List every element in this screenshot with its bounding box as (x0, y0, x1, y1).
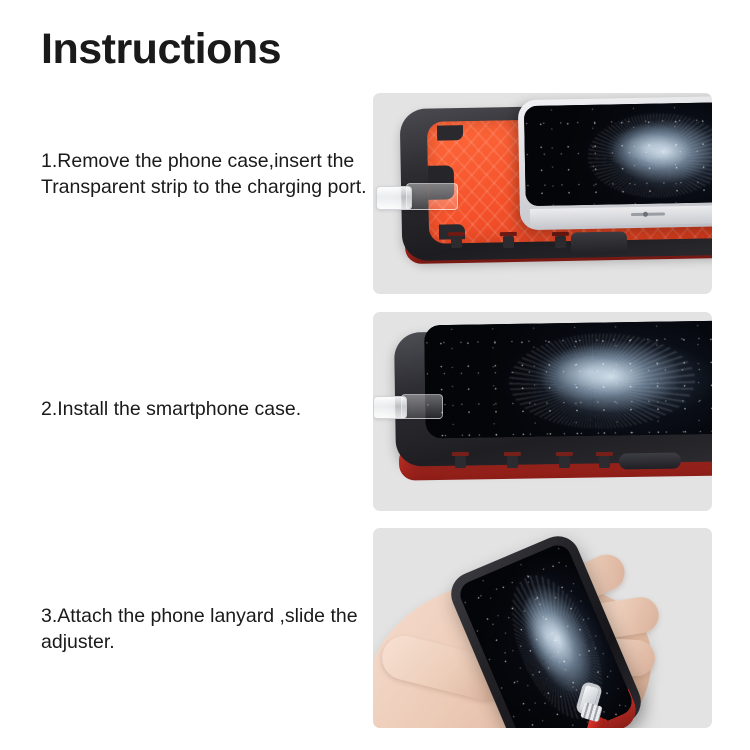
case-side-button (619, 453, 681, 470)
step-3-image-panel (373, 528, 712, 728)
speaker-grille-icon (631, 212, 665, 216)
transparent-strip (376, 186, 412, 210)
transparent-strip-inserted (406, 183, 458, 210)
step-3-text: 3.Attach the phone lanyard ,slide the ad… (41, 603, 371, 655)
case-charging-connector (571, 231, 627, 254)
wallpaper-wave-image (524, 102, 712, 206)
phone-device (518, 96, 712, 230)
step-1-illustration (373, 93, 712, 294)
case-vent-slot (455, 456, 466, 468)
step-3-illustration (373, 528, 712, 728)
case-vent-slot (599, 456, 610, 468)
phone-screen (424, 321, 712, 439)
step-1-text: 1.Remove the phone case,insert the Trans… (41, 148, 371, 200)
case-vent-slot (507, 456, 518, 468)
wallpaper-wave-image (424, 321, 712, 439)
case-vent-slot (503, 236, 514, 248)
step-2-image-panel (373, 312, 712, 511)
case-vent-slot (451, 236, 462, 248)
case-corner-tab (437, 125, 463, 140)
case-vent-slot (555, 236, 566, 248)
step-1-image-panel (373, 93, 712, 294)
transparent-strip-inserted (401, 394, 443, 419)
step-2-text: 2.Install the smartphone case. (41, 396, 371, 422)
step-2-illustration (373, 312, 712, 511)
phone-screen (524, 102, 712, 206)
case-vent-slot (559, 456, 570, 468)
phone-bottom-bezel (530, 205, 712, 227)
transparent-strip (373, 396, 407, 419)
page-title: Instructions (41, 25, 281, 74)
